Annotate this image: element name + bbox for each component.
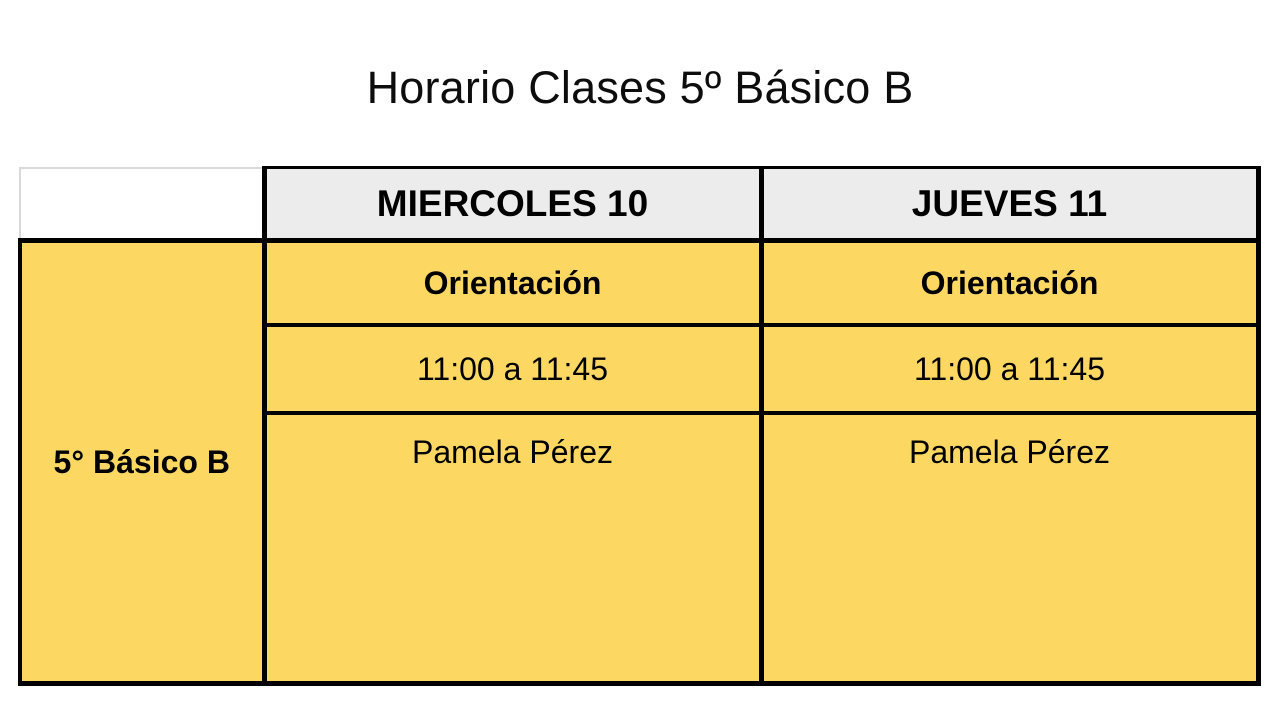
table-header-row: MIERCOLES 10 JUEVES 11: [20, 168, 1258, 241]
table-corner-cell: [20, 168, 264, 241]
column-header-miercoles: MIERCOLES 10: [264, 168, 761, 241]
page-title: Horario Clases 5º Básico B: [0, 62, 1280, 114]
cell-time-miercoles: 11:00 a 11:45: [264, 325, 761, 413]
column-header-jueves: JUEVES 11: [761, 168, 1258, 241]
cell-subject-miercoles: Orientación: [264, 241, 761, 326]
cell-time-jueves: 11:00 a 11:45: [761, 325, 1258, 413]
cell-subject-jueves: Orientación: [761, 241, 1258, 326]
cell-teacher-jueves: Pamela Pérez: [761, 413, 1258, 684]
cell-teacher-miercoles: Pamela Pérez: [264, 413, 761, 684]
table-row-subject: 5° Básico B Orientación Orientación: [20, 241, 1258, 326]
row-label-curso: 5° Básico B: [20, 241, 264, 684]
slide-canvas: Horario Clases 5º Básico B MIERCOLES 10 …: [0, 0, 1280, 720]
schedule-table: MIERCOLES 10 JUEVES 11 5° Básico B Orien…: [18, 166, 1261, 686]
